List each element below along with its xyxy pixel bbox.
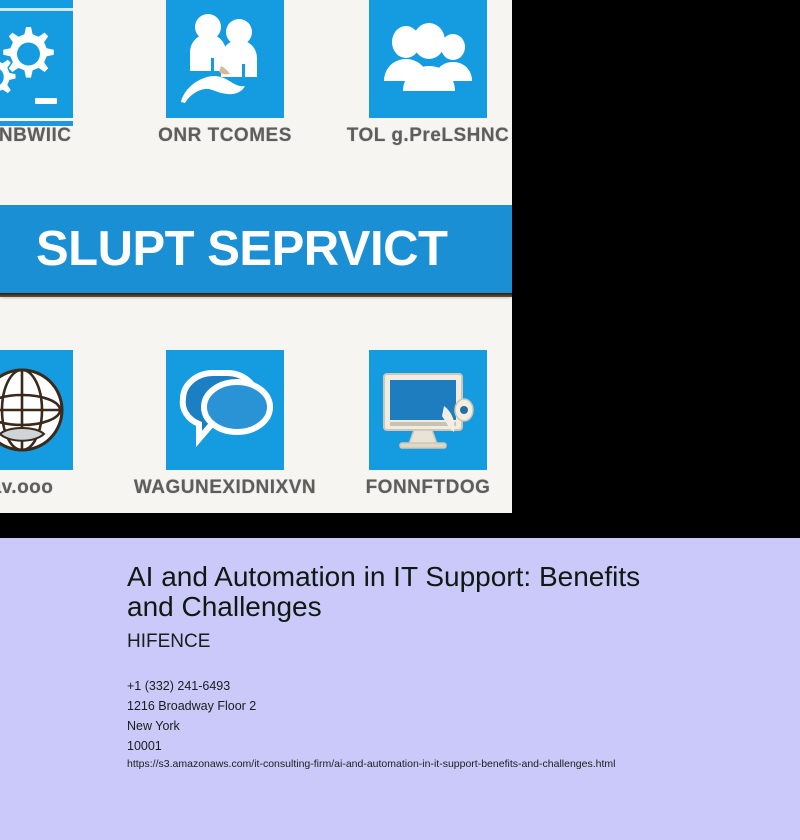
- icon-label: WAGUNEXIDNIXVN: [134, 477, 316, 499]
- handshake-people-icon: [177, 9, 273, 109]
- speech-bubbles-icon: [175, 365, 275, 455]
- icon-label: FONNFTDOG: [366, 477, 491, 499]
- icon-label: SENBWIIC: [0, 125, 72, 147]
- contact-phone: +1 (332) 241-6493: [127, 676, 256, 696]
- icon-row-bottom: av.ooo WAGUNEXIDNIXVN: [0, 350, 512, 513]
- brand-name: HIFENCE: [127, 631, 210, 653]
- tile-top-line: [0, 8, 73, 11]
- group-tile: [369, 0, 487, 118]
- globe-tile: [0, 350, 73, 470]
- gears-tile: [0, 0, 73, 118]
- icon-cell-handshake: ONR TCOMES: [145, 0, 305, 165]
- tile-dash-mark: [35, 98, 57, 104]
- generated-graphic: SENBWIIC: [0, 0, 512, 513]
- desktop-monitor-icon: [378, 366, 478, 454]
- group-people-icon: [382, 23, 474, 95]
- icon-label: av.ooo: [0, 477, 53, 499]
- contact-city: New York: [127, 716, 256, 736]
- globe-icon: [0, 364, 68, 456]
- icon-row-top: SENBWIIC: [0, 0, 512, 165]
- monitor-tile: [369, 350, 487, 470]
- icon-cell-group: TOL g.PreLSHNC: [348, 0, 508, 165]
- icon-label: ONR TCOMES: [158, 125, 292, 147]
- gears-icon: [0, 17, 66, 101]
- icon-cell-monitor: FONNFTDOG: [348, 350, 508, 513]
- hero-banner-text: SLUPT SEPRVICT: [36, 221, 447, 277]
- article-info-panel: AI and Automation in IT Support: Benefit…: [0, 538, 800, 840]
- hero-image-region: SENBWIIC: [0, 0, 800, 538]
- contact-postal-code: 10001: [127, 736, 256, 756]
- hero-banner-underline: [0, 293, 512, 297]
- page-title: AI and Automation in IT Support: Benefit…: [127, 562, 687, 622]
- hero-banner: SLUPT SEPRVICT: [0, 205, 512, 293]
- icon-cell-globe: av.ooo: [0, 350, 102, 513]
- source-url[interactable]: https://s3.amazonaws.com/it-consulting-f…: [127, 758, 615, 770]
- contact-street: 1216 Broadway Floor 2: [127, 696, 256, 716]
- icon-cell-gears: SENBWIIC: [0, 0, 102, 165]
- handshake-tile: [166, 0, 284, 118]
- tile-bottom-line: [0, 121, 73, 126]
- icon-label: TOL g.PreLSHNC: [347, 125, 510, 147]
- icon-cell-chat: WAGUNEXIDNIXVN: [145, 350, 305, 513]
- chat-tile: [166, 350, 284, 470]
- contact-block: +1 (332) 241-6493 1216 Broadway Floor 2 …: [127, 676, 256, 756]
